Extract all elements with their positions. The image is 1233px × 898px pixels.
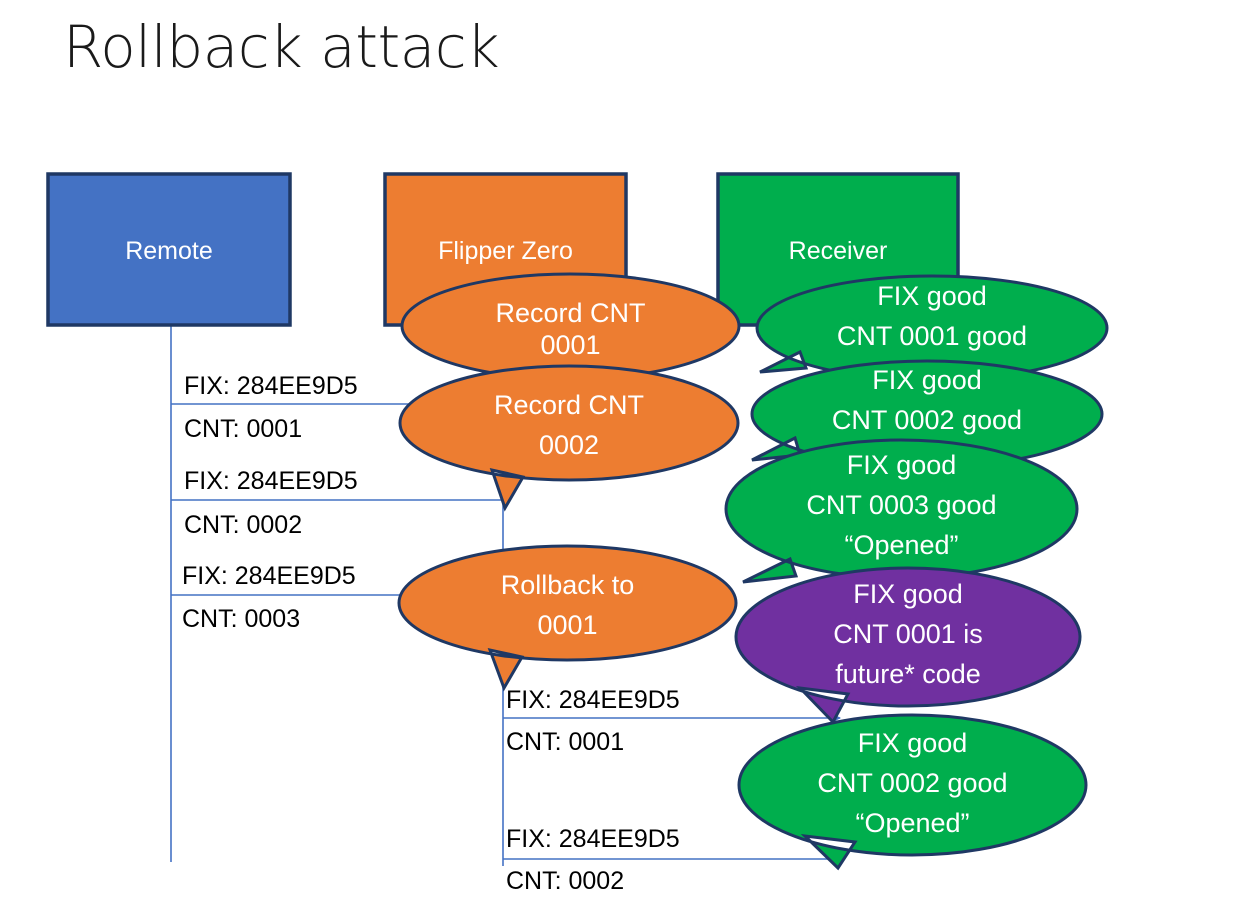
callout-receiver-cnt2-opened[interactable]	[739, 715, 1086, 868]
callout-receiver-cnt3-opened[interactable]	[726, 440, 1077, 582]
diagram-canvas	[0, 0, 1233, 898]
callout-flipper-record-2[interactable]	[400, 366, 738, 508]
callout-receiver-cnt1-future[interactable]	[736, 568, 1080, 722]
slide-canvas: Rollback attack	[0, 0, 1233, 898]
callout-flipper-record-1[interactable]	[402, 274, 739, 379]
callout-flipper-rollback[interactable]	[399, 546, 736, 688]
lane-box-remote[interactable]	[48, 174, 290, 325]
